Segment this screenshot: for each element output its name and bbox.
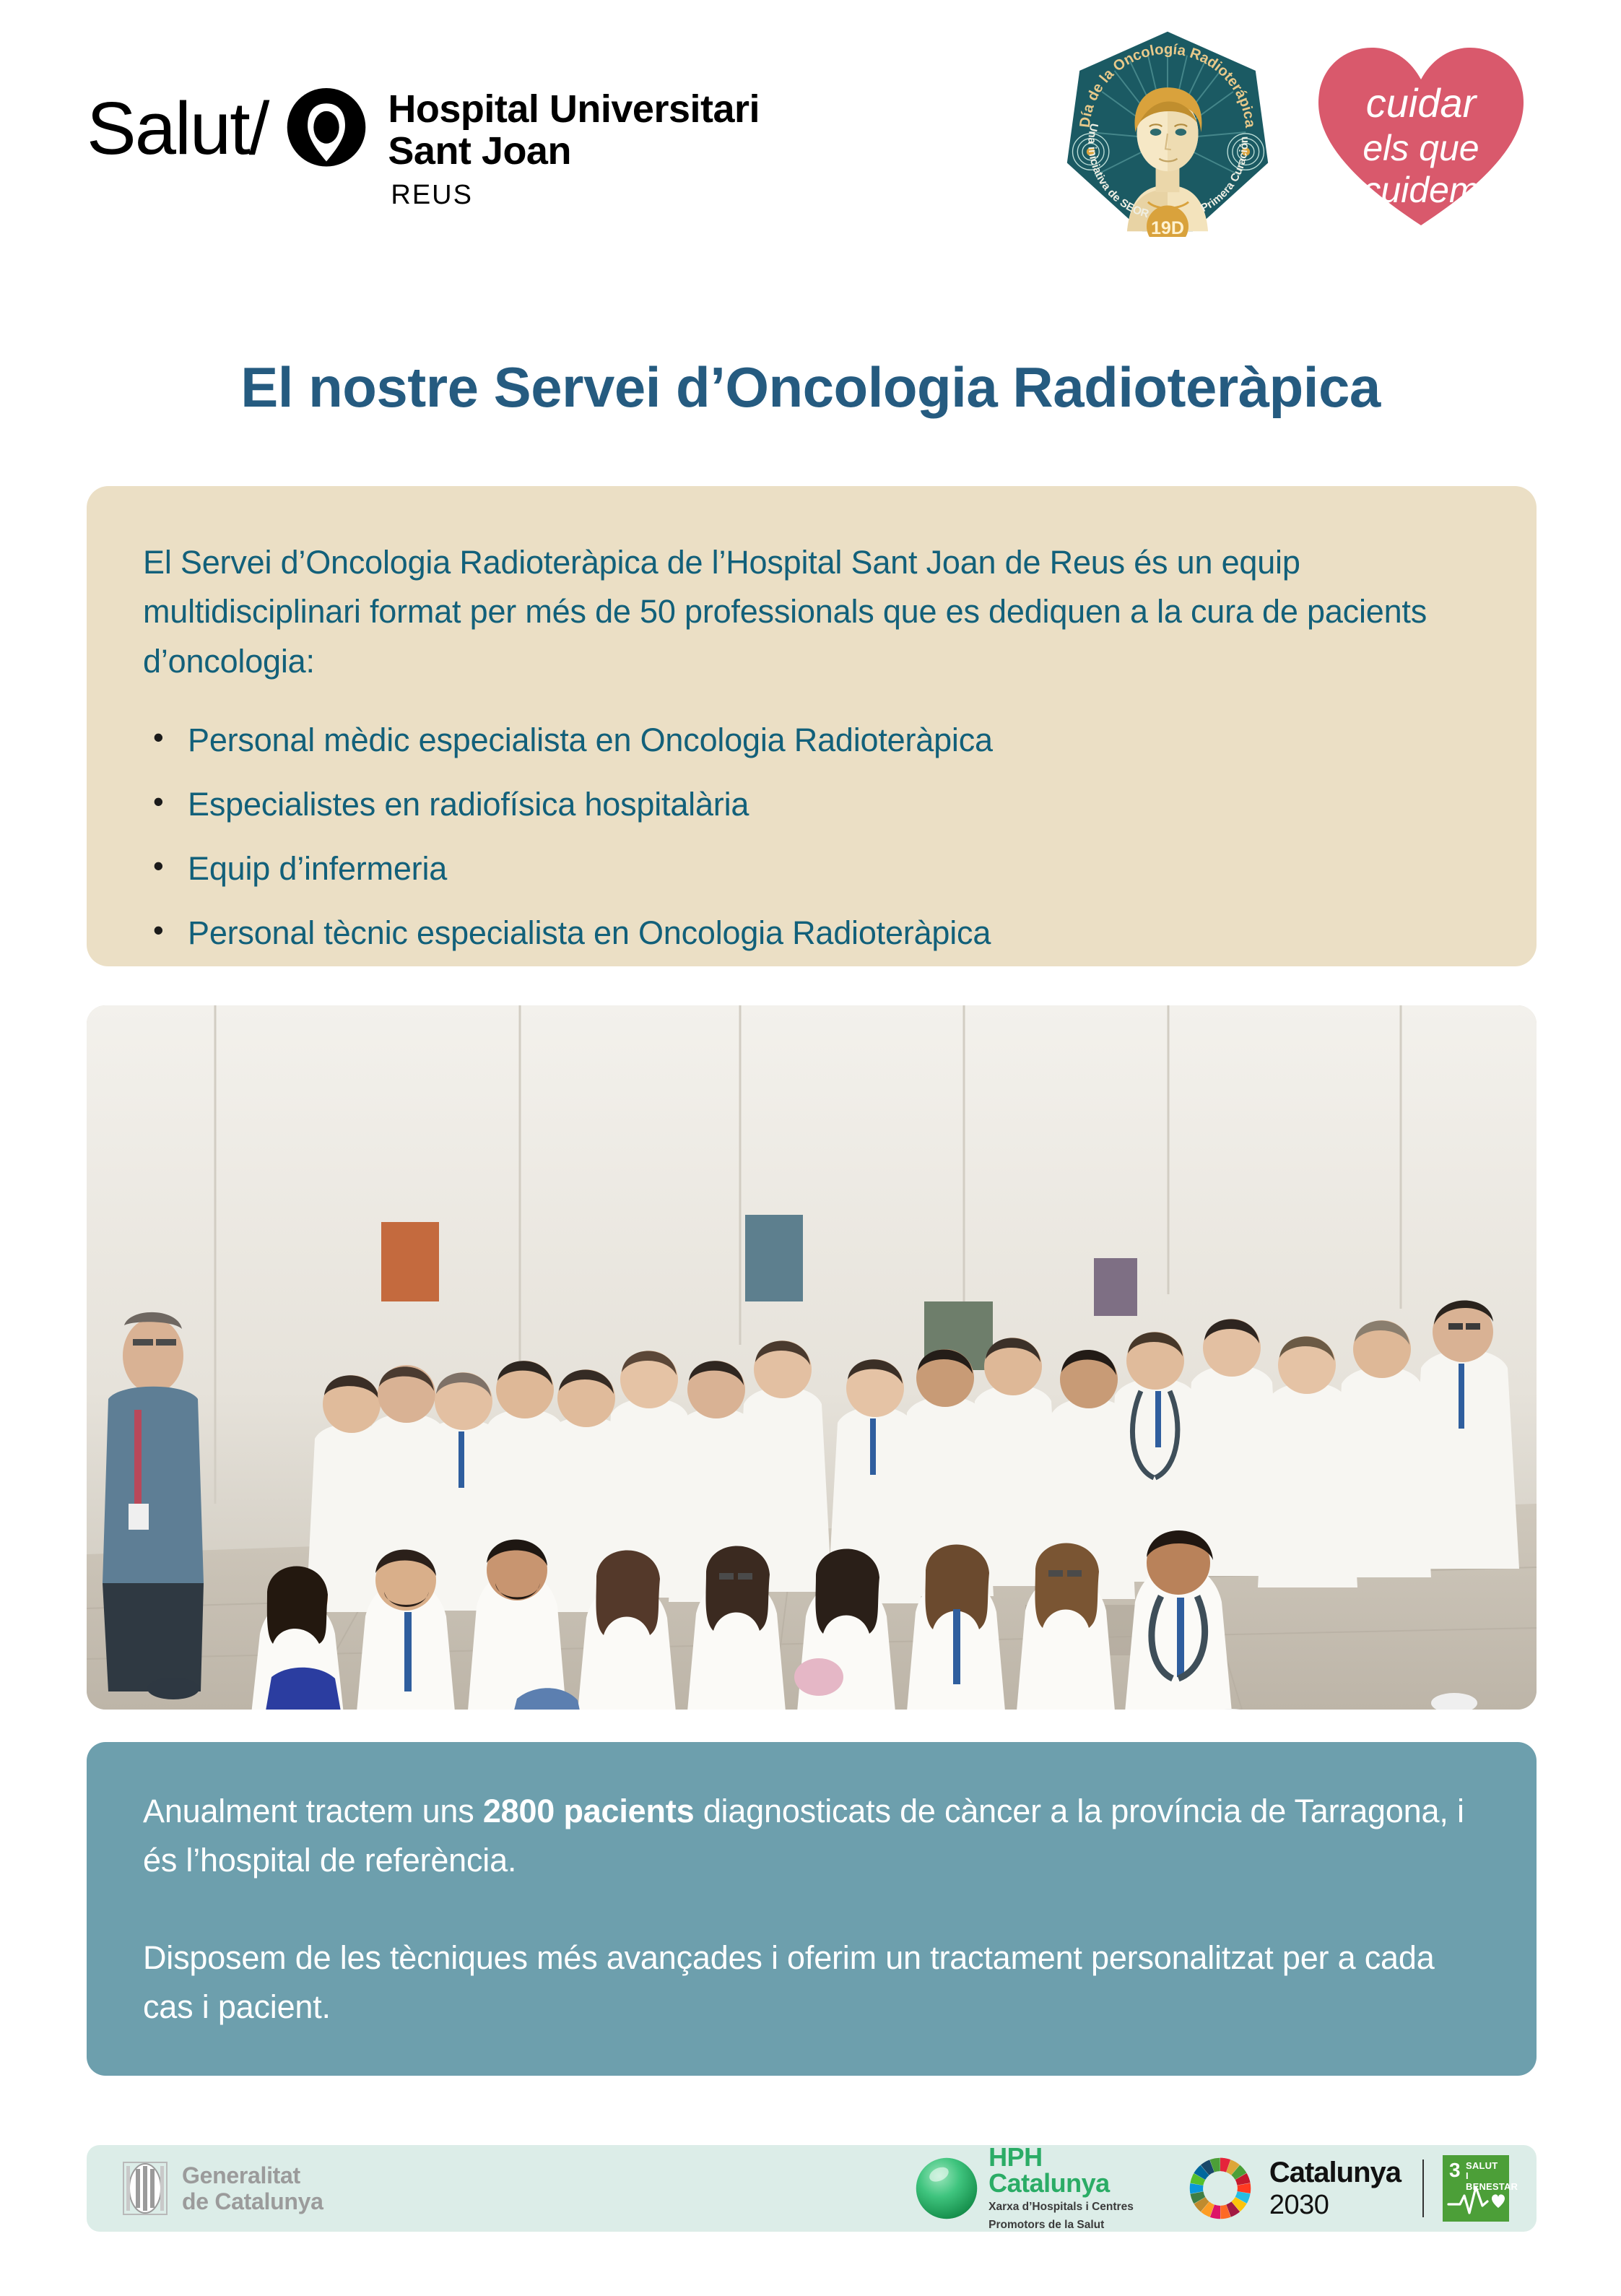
generalitat-de-catalunya-logo: Generalitat de Catalunya: [123, 2162, 323, 2215]
list-item: Equip d’infermeria: [143, 852, 1480, 885]
statistics-panel: Anualment tractem uns 2800 pacients diag…: [87, 1742, 1537, 2076]
heart-text-line1: cuidar: [1366, 80, 1478, 126]
heart-text-line3: cuidem: [1363, 170, 1479, 210]
statistics-paragraph-1: Anualment tractem uns 2800 pacients diag…: [143, 1787, 1480, 1886]
footer-divider: [1422, 2159, 1424, 2217]
professionals-list: Personal mèdic especialista en Oncologia…: [143, 724, 1480, 949]
cuidar-els-que-cuidem-heart-logo: cuidar els que cuidem: [1313, 29, 1529, 238]
generalitat-shield-icon: [123, 2162, 168, 2215]
intro-paragraph: El Servei d’Oncologia Radioteràpica de l…: [143, 538, 1480, 686]
hph-subtitle-line2: Promotors de la Salut: [988, 2219, 1134, 2232]
intro-panel: El Servei d’Oncologia Radioteràpica de l…: [87, 486, 1537, 966]
statistics-text-before: Anualment tractem uns: [143, 1793, 483, 1829]
hospital-brand-lockup: Salut/ Hospital Universitari Sant Joan R…: [87, 85, 760, 211]
team-group-photo: [87, 1005, 1537, 1710]
catalunya-2030-logo: Catalunya 2030: [1186, 2154, 1401, 2223]
dia-oncologia-radioterapica-badge: 19D Día de la Oncología Radioterápica Un…: [1063, 27, 1272, 237]
catalunya-2030-line1: Catalunya: [1269, 2158, 1401, 2187]
sdg-colour-wheel-icon: [1186, 2154, 1255, 2223]
badge-date-number: 19D: [1151, 218, 1184, 237]
sdg-goal-3-tile: 3 SALUT I BENESTAR: [1443, 2155, 1509, 2222]
hph-title-line2: Catalunya: [988, 2170, 1134, 2196]
patients-count: 2800 pacients: [483, 1793, 695, 1829]
footer-logo-bar: Generalitat de Catalunya HPH Catalunya: [87, 2145, 1537, 2232]
catalunya-2030-text-block: Catalunya 2030: [1269, 2158, 1401, 2219]
list-item: Personal mèdic especialista en Oncologia…: [143, 724, 1480, 756]
generalitat-line1: Generalitat: [182, 2162, 323, 2188]
salut-target-icon: [284, 88, 369, 173]
list-item: Personal tècnic especialista en Oncologi…: [143, 917, 1480, 949]
salut-wordmark: Salut/: [87, 91, 268, 165]
hph-subtitle-line1: Xarxa d’Hospitals i Centres: [988, 2201, 1134, 2214]
sdg-goal-3-label-line1: SALUT: [1466, 2161, 1518, 2171]
hph-sphere-icon: [915, 2157, 978, 2220]
statistics-paragraph-2: Disposem de les tècniques més avançades …: [143, 1933, 1480, 2032]
team-photo-illustration: [87, 1005, 1537, 1710]
hospital-name-line2: Sant Joan: [388, 130, 760, 172]
catalunya-2030-line2: 2030: [1269, 2191, 1401, 2219]
hospital-city-label: REUS: [391, 180, 760, 211]
page-title: El nostre Servei d’Oncologia Radioteràpi…: [0, 357, 1621, 419]
hospital-name-block: Hospital Universitari Sant Joan REUS: [388, 88, 760, 211]
generalitat-line2: de Catalunya: [182, 2188, 323, 2214]
generalitat-text-block: Generalitat de Catalunya: [182, 2162, 323, 2215]
footer-partner-logos: HPH Catalunya Xarxa d’Hospitals i Centre…: [915, 2144, 1509, 2232]
sdg-goal-3-number: 3: [1449, 2160, 1461, 2180]
list-item: Especialistes en radiofísica hospitalàri…: [143, 788, 1480, 820]
hph-text-block: HPH Catalunya Xarxa d’Hospitals i Centre…: [988, 2144, 1134, 2232]
heartbeat-pulse-icon: [1447, 2184, 1505, 2216]
page-header: Salut/ Hospital Universitari Sant Joan R…: [0, 0, 1621, 289]
hospital-name-line1: Hospital Universitari: [388, 88, 760, 130]
hph-title-line1: HPH: [988, 2144, 1134, 2170]
heart-text-line2: els que: [1363, 128, 1479, 168]
hph-catalunya-logo: HPH Catalunya Xarxa d’Hospitals i Centre…: [915, 2144, 1134, 2232]
